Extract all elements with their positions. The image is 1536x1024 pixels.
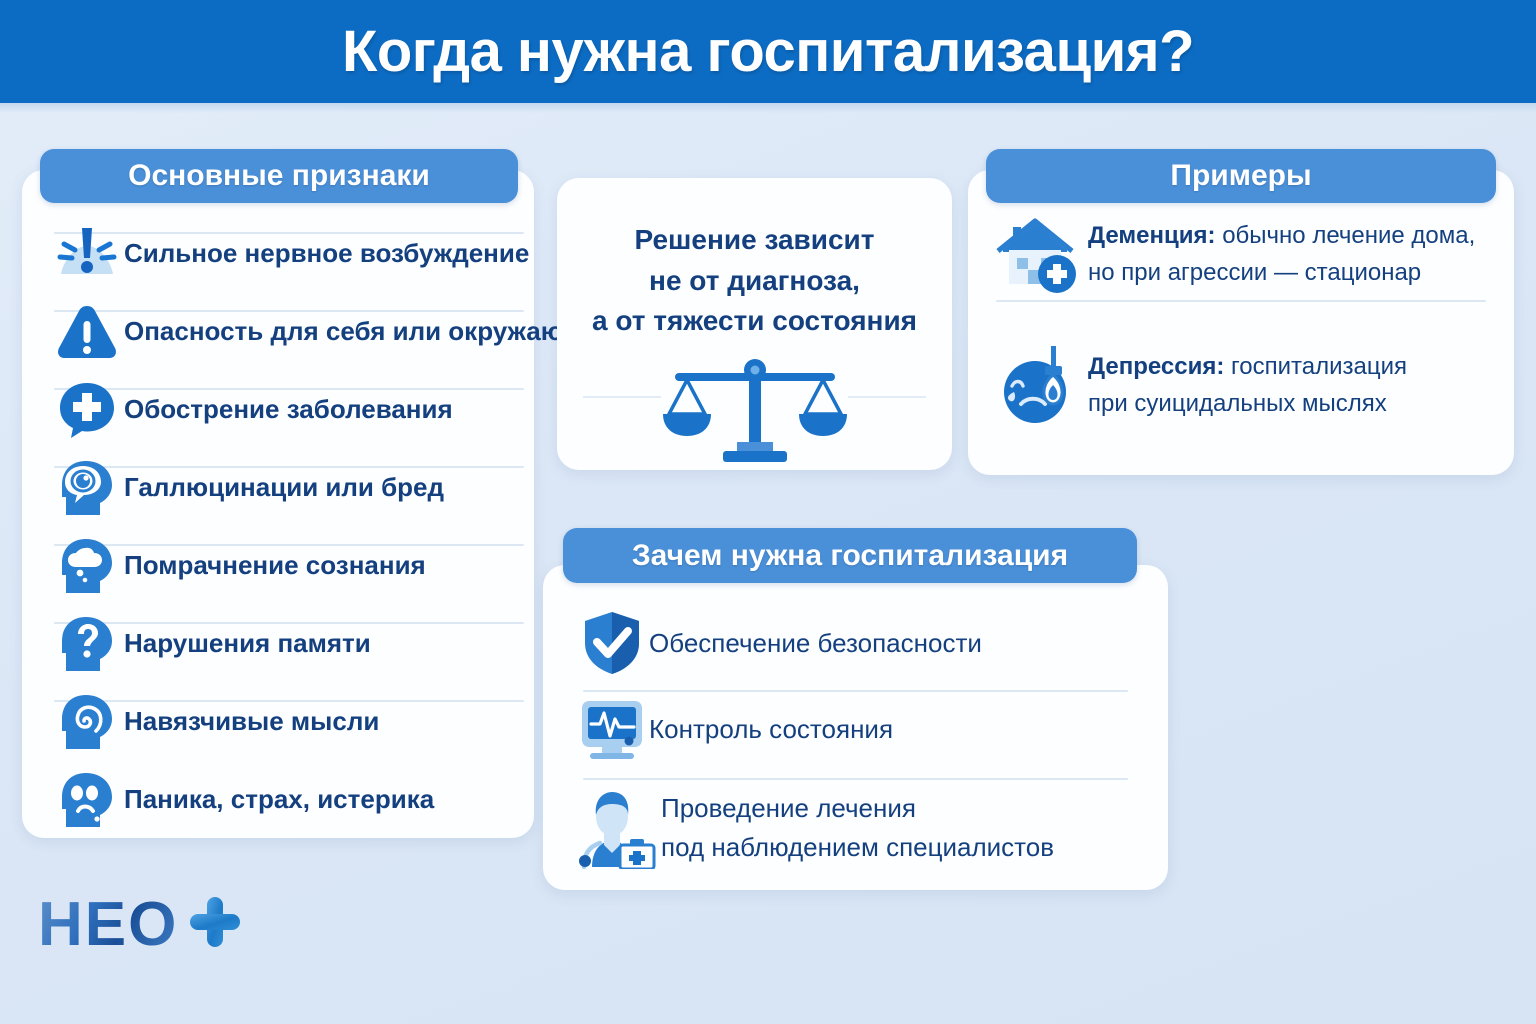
- example-text-depression: Депрессия: госпитализация при суицидальн…: [1088, 348, 1407, 422]
- sign-row-memory[interactable]: Нарушения памяти: [50, 612, 534, 676]
- examples-card: Деменция: обычно лечение дома, но при аг…: [968, 170, 1514, 475]
- examples-divider: [996, 300, 1486, 302]
- sign-label: Нарушения памяти: [124, 627, 371, 660]
- why-hospitalization-card-header: Зачем нужна госпитализация: [563, 528, 1137, 583]
- warning-triangle-icon: [50, 303, 124, 361]
- main-signs-card: Сильное нервное возбуждение Опасность дл…: [22, 170, 534, 838]
- why-text-monitoring: Контроль состояния: [649, 710, 893, 749]
- head-question-icon: [50, 613, 124, 675]
- why-divider: [583, 778, 1128, 780]
- why-text-treatment: Проведение лечения под наблюдением специ…: [661, 789, 1054, 867]
- example-line-1: госпитализация: [1224, 353, 1407, 380]
- why-hospitalization-card: Обеспечение безопасности Контроль состоя…: [543, 565, 1168, 890]
- why-hospitalization-card-title: Зачем нужна госпитализация: [632, 539, 1068, 573]
- sign-row-confusion[interactable]: Помрачнение сознания: [50, 534, 534, 598]
- brand-logo-text: НЕО: [38, 894, 178, 956]
- why-divider: [583, 690, 1128, 692]
- head-eye-bubble-icon: [50, 457, 124, 519]
- sign-label: Галлюцинации или бред: [124, 471, 444, 504]
- page-title: Когда нужна госпитализация?: [342, 18, 1194, 85]
- why-row-safety[interactable]: Обеспечение безопасности: [575, 609, 1165, 677]
- sign-row-hallucinations[interactable]: Галлюцинации или бред: [50, 456, 534, 520]
- example-line-1: обычно лечение дома,: [1216, 222, 1476, 249]
- statement-line-2: не от диагноза,: [557, 261, 952, 302]
- example-text-dementia: Деменция: обычно лечение дома, но при аг…: [1088, 217, 1475, 291]
- head-panic-face-icon: [50, 769, 124, 831]
- main-signs-card-title: Основные признаки: [128, 159, 430, 193]
- house-medical-icon: [988, 214, 1088, 294]
- sign-label: Сильное нервное возбуждение: [124, 237, 529, 270]
- statement-line-3: а от тяжести состояния: [557, 301, 952, 342]
- example-line-2: но при агрессии — стационар: [1088, 259, 1421, 286]
- balance-scale-wrapper: [557, 356, 952, 462]
- brand-logo[interactable]: НЕО: [38, 893, 244, 956]
- sign-label: Обострение заболевания: [124, 393, 453, 426]
- exclamation-burst-icon: [50, 224, 124, 284]
- why-line-1: Обеспечение безопасности: [649, 628, 982, 658]
- head-spiral-icon: [50, 691, 124, 753]
- sign-label: Помрачнение сознания: [124, 549, 426, 582]
- header-shadow: [0, 103, 1536, 113]
- examples-card-title: Примеры: [1170, 159, 1311, 193]
- doctor-bag-icon: [575, 787, 661, 869]
- why-line-2: под наблюдением специалистов: [661, 832, 1054, 862]
- example-row-dementia[interactable]: Деменция: обычно лечение дома, но при аг…: [988, 214, 1514, 294]
- why-text-safety: Обеспечение безопасности: [649, 624, 982, 663]
- sign-row-obsessive[interactable]: Навязчивые мысли: [50, 690, 534, 754]
- head-cloud-icon: [50, 535, 124, 597]
- statement-line-1: Решение зависит: [557, 220, 952, 261]
- why-line-1: Контроль состояния: [649, 714, 893, 744]
- why-row-monitoring[interactable]: Контроль состояния: [575, 697, 1165, 761]
- sign-row-panic[interactable]: Паника, страх, истерика: [50, 768, 534, 832]
- sign-label: Опасность для себя или окружающих: [124, 315, 615, 348]
- balance-scale-icon: [657, 356, 853, 462]
- page-header-bar: Когда нужна госпитализация?: [0, 0, 1536, 103]
- example-lead: Депрессия:: [1088, 353, 1224, 380]
- example-row-depression[interactable]: Депрессия: госпитализация при суицидальн…: [988, 342, 1514, 428]
- sign-label: Навязчивые мысли: [124, 705, 379, 738]
- sign-row-agitation[interactable]: Сильное нервное возбуждение: [50, 222, 534, 286]
- statement-text-block: Решение зависит не от диагноза, а от тяж…: [557, 220, 952, 342]
- sad-face-drop-icon: [988, 342, 1088, 428]
- example-lead: Деменция:: [1088, 222, 1216, 249]
- statement-card: Решение зависит не от диагноза, а от тяж…: [557, 178, 952, 470]
- sign-row-danger[interactable]: Опасность для себя или окружающих: [50, 300, 534, 364]
- main-signs-card-header: Основные признаки: [40, 149, 518, 203]
- why-line-1: Проведение лечения: [661, 793, 916, 823]
- examples-card-header: Примеры: [986, 149, 1496, 203]
- why-row-treatment[interactable]: Проведение лечения под наблюдением специ…: [575, 787, 1165, 869]
- plus-icon: [186, 893, 244, 956]
- sign-label: Паника, страх, истерика: [124, 783, 434, 816]
- medical-cross-bubble-icon: [50, 380, 124, 440]
- ecg-monitor-icon: [575, 697, 649, 761]
- sign-row-exacerbation[interactable]: Обострение заболевания: [50, 378, 534, 442]
- example-line-2: при суицидальных мыслях: [1088, 390, 1387, 417]
- shield-check-icon: [575, 609, 649, 677]
